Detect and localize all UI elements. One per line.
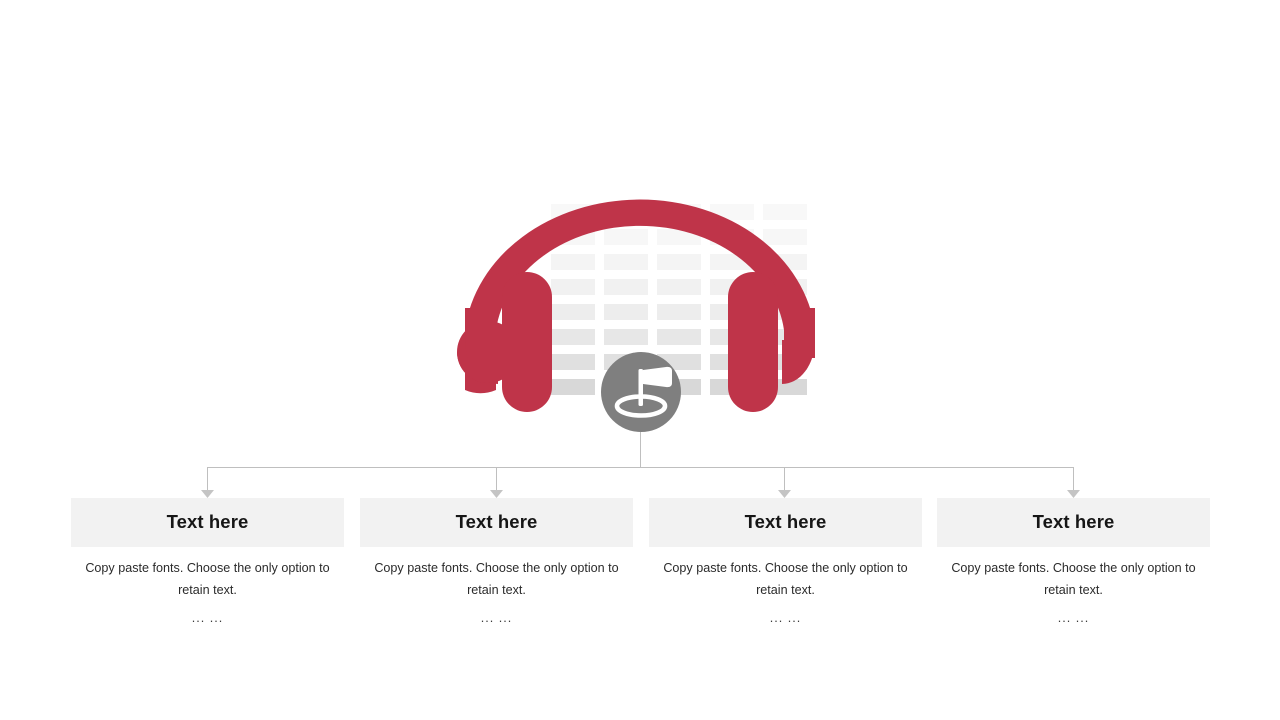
- card-title-3: Text here: [745, 513, 827, 532]
- card-header-3[interactable]: Text here: [649, 498, 922, 547]
- card-description-4: Copy paste fonts. Choose the only option…: [947, 558, 1200, 601]
- card-body-1: Copy paste fonts. Choose the only option…: [71, 558, 344, 630]
- card-title-2: Text here: [456, 513, 538, 532]
- card-body-4: Copy paste fonts. Choose the only option…: [937, 558, 1210, 630]
- card-title-4: Text here: [1033, 513, 1115, 532]
- connector-lines: [0, 425, 1280, 505]
- card-dots-1: ... ...: [81, 608, 334, 630]
- card-dots-4: ... ...: [947, 608, 1200, 630]
- info-column-2[interactable]: Text here Copy paste fonts. Choose the o…: [360, 498, 633, 630]
- card-description-3: Copy paste fonts. Choose the only option…: [659, 558, 912, 601]
- card-dots-3: ... ...: [659, 608, 912, 630]
- card-header-4[interactable]: Text here: [937, 498, 1210, 547]
- golf-flag-badge: [601, 352, 681, 432]
- card-body-3: Copy paste fonts. Choose the only option…: [649, 558, 922, 630]
- card-header-2[interactable]: Text here: [360, 498, 633, 547]
- card-dots-2: ... ...: [370, 608, 623, 630]
- card-body-2: Copy paste fonts. Choose the only option…: [360, 558, 633, 630]
- card-description-1: Copy paste fonts. Choose the only option…: [81, 558, 334, 601]
- info-column-3[interactable]: Text here Copy paste fonts. Choose the o…: [649, 498, 922, 630]
- card-title-1: Text here: [167, 513, 249, 532]
- slide-canvas: Text here Copy paste fonts. Choose the o…: [0, 0, 1280, 720]
- info-column-4[interactable]: Text here Copy paste fonts. Choose the o…: [937, 498, 1210, 630]
- arrowhead-group: [201, 490, 1080, 498]
- hero-graphic: [440, 100, 840, 445]
- card-header-1[interactable]: Text here: [71, 498, 344, 547]
- info-column-1[interactable]: Text here Copy paste fonts. Choose the o…: [71, 498, 344, 630]
- card-description-2: Copy paste fonts. Choose the only option…: [370, 558, 623, 601]
